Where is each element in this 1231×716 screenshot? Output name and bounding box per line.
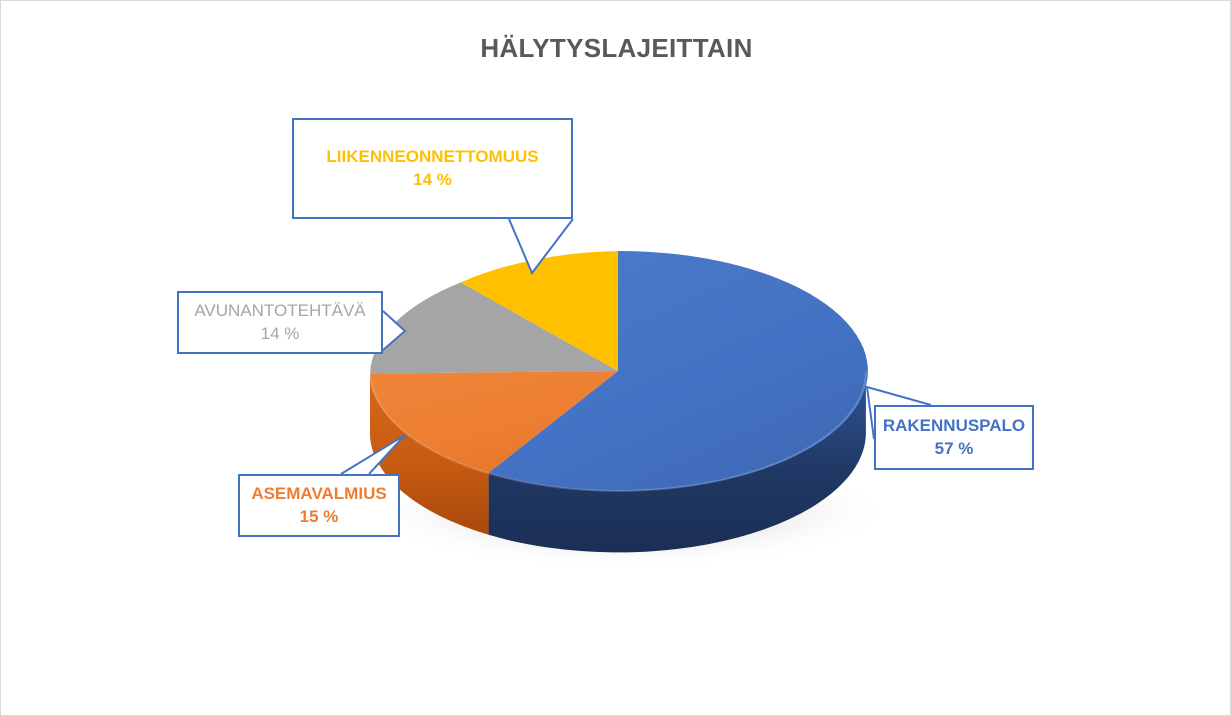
pie-chart-3d: LIIKENNEONNETTOMUUS 14 % AVUNANTOTEHTÄVÄ… (1, 1, 1231, 716)
pie-svg (1, 1, 1231, 716)
callout-value: 15 % (300, 506, 339, 528)
callout-label: AVUNANTOTEHTÄVÄ (194, 300, 365, 322)
callout-label: ASEMAVALMIUS (251, 483, 386, 505)
callout-asemavalmius[interactable]: ASEMAVALMIUS 15 % (238, 474, 400, 537)
callout-value: 57 % (935, 438, 974, 460)
callout-label: RAKENNUSPALO (883, 415, 1025, 437)
callout-value: 14 % (261, 323, 300, 345)
chart-canvas: HÄLYTYSLAJEITTAIN (0, 0, 1231, 716)
callout-label: LIIKENNEONNETTOMUUS (326, 146, 538, 168)
callout-value: 14 % (413, 169, 452, 191)
callout-liikenneonnettomuus[interactable]: LIIKENNEONNETTOMUUS 14 % (292, 118, 573, 219)
callout-avunantotehtava[interactable]: AVUNANTOTEHTÄVÄ 14 % (177, 291, 383, 354)
callout-rakennuspalo[interactable]: RAKENNUSPALO 57 % (874, 405, 1034, 470)
